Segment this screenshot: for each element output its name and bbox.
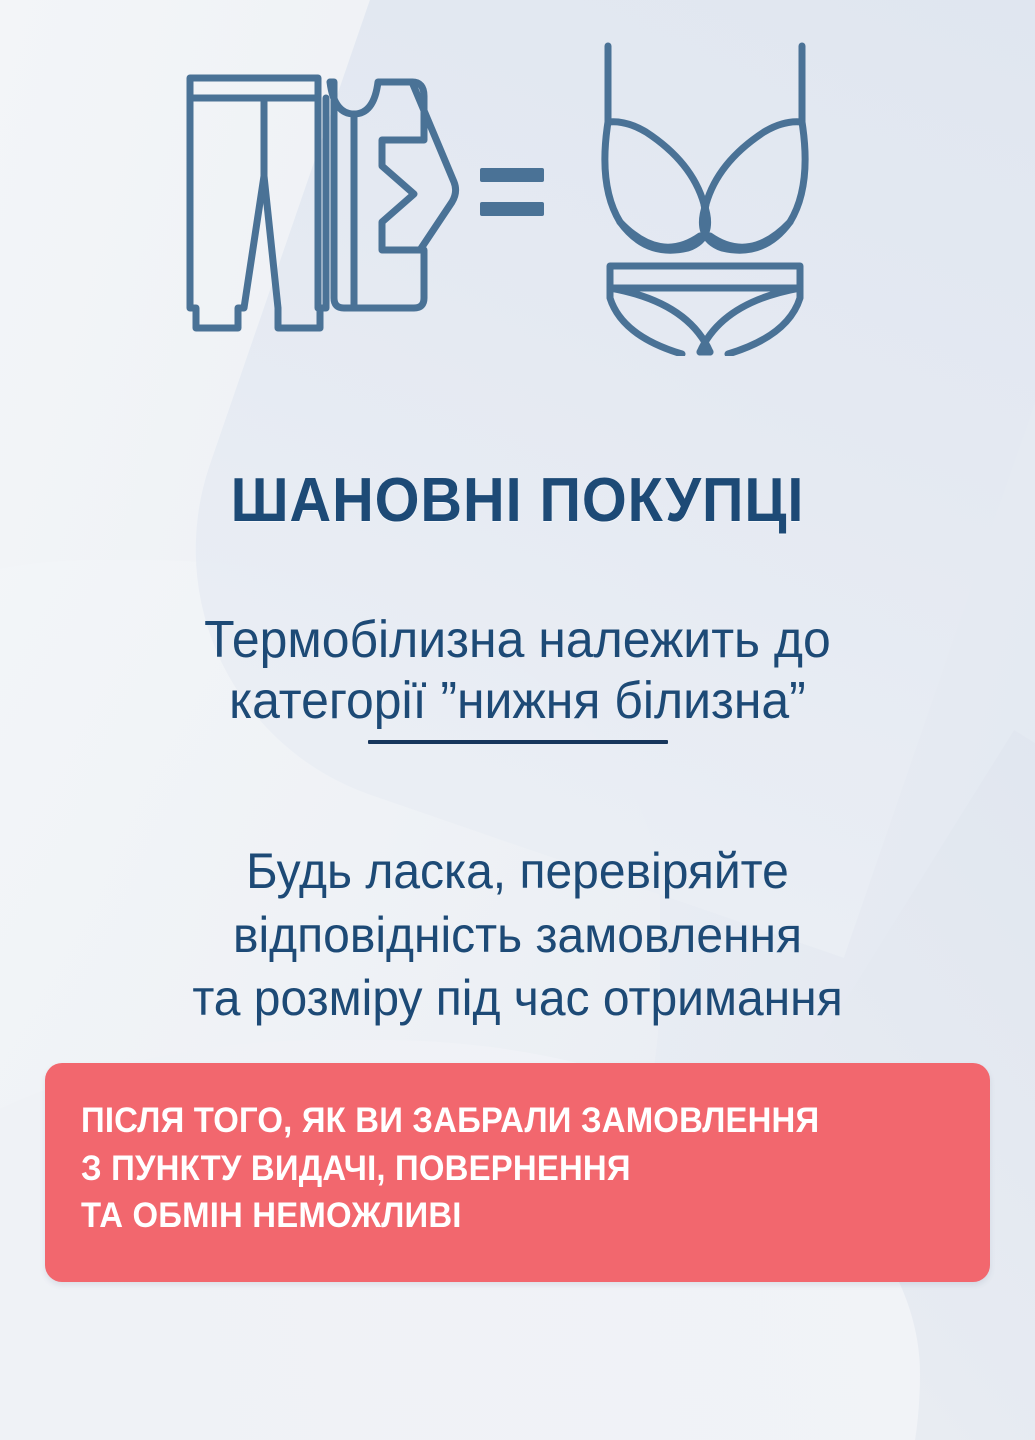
notice-line-1: Будь ласка, перевіряйте — [21, 840, 1015, 904]
warning-line-3: ТА ОБМІН НЕМОЖЛИВІ — [81, 1192, 902, 1240]
warning-banner: ПІСЛЯ ТОГО, ЯК ВИ ЗАБРАЛИ ЗАМОВЛЕННЯ З П… — [45, 1063, 990, 1282]
notice-line-2: відповідність замовлення — [21, 904, 1015, 968]
poster-content: ШАНОВНІ ПОКУПЦІ Термобілизна належить до… — [0, 0, 1035, 1440]
notice-line-3: та розміру під час отримання — [21, 967, 1015, 1031]
divider-container — [0, 740, 1035, 744]
warning-line-2: З ПУНКТУ ВИДАЧІ, ПОВЕРНЕННЯ — [81, 1145, 902, 1193]
intro-line-1: Термобілизна належить до — [21, 610, 1015, 671]
promo-poster: ШАНОВНІ ПОКУПЦІ Термобілизна належить до… — [0, 0, 1035, 1440]
thermal-leggings-icon — [190, 78, 326, 328]
page-title: ШАНОВНІ ПОКУПЦІ — [36, 470, 999, 532]
thermal-top-icon — [330, 82, 456, 308]
section-divider — [368, 740, 668, 744]
intro-line-2: категорії ”нижня білизна” — [21, 671, 1015, 732]
warning-line-1: ПІСЛЯ ТОГО, ЯК ВИ ЗАБРАЛИ ЗАМОВЛЕННЯ — [81, 1097, 902, 1145]
equals-icon — [480, 168, 544, 216]
intro-paragraph: Термобілизна належить до категорії ”нижн… — [21, 610, 1015, 733]
panties-icon — [610, 266, 800, 354]
bra-icon — [604, 46, 804, 250]
hero-illustration — [0, 36, 1035, 356]
notice-paragraph: Будь ласка, перевіряйте відповідність за… — [21, 840, 1015, 1031]
